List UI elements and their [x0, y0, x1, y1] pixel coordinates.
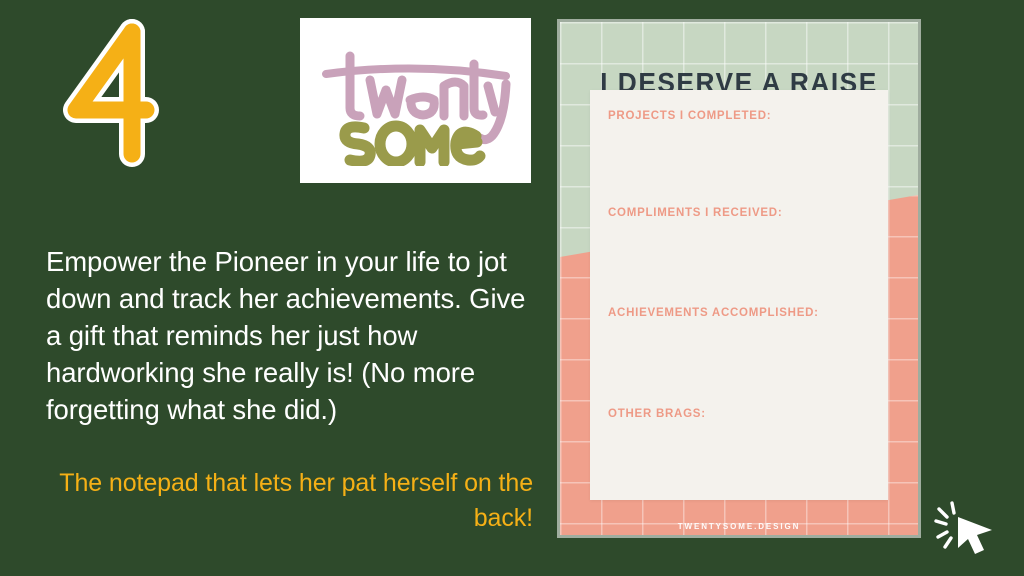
notepad-paper: PROJECTS I COMPLETED: COMPLIMENTS I RECE…: [590, 90, 888, 500]
notepad-field-label: PROJECTS I COMPLETED:: [608, 110, 771, 122]
product-image-notepad: I DESERVE A RAISE PROJECTS I COMPLETED: …: [560, 22, 918, 535]
notepad-footer-brand: TWENTYSOME.DESIGN: [560, 522, 918, 531]
body-paragraph: Empower the Pioneer in your life to jot …: [46, 243, 546, 428]
notepad-field-label: COMPLIMENTS I RECEIVED:: [608, 207, 782, 219]
brand-logo-card: [300, 18, 531, 183]
notepad-field-label: OTHER BRAGS:: [608, 408, 706, 420]
logo-word-some: [344, 126, 479, 162]
click-cursor-icon: [928, 497, 1000, 561]
cursor-arrow-shape: [958, 517, 992, 554]
slide-number: [46, 18, 176, 168]
numeral-four-glyph: [76, 32, 146, 154]
tagline-text: The notepad that lets her pat herself on…: [46, 466, 533, 536]
cursor-click-rays: [936, 503, 954, 547]
notepad-field-label: ACHIEVEMENTS ACCOMPLISHED:: [608, 307, 819, 319]
